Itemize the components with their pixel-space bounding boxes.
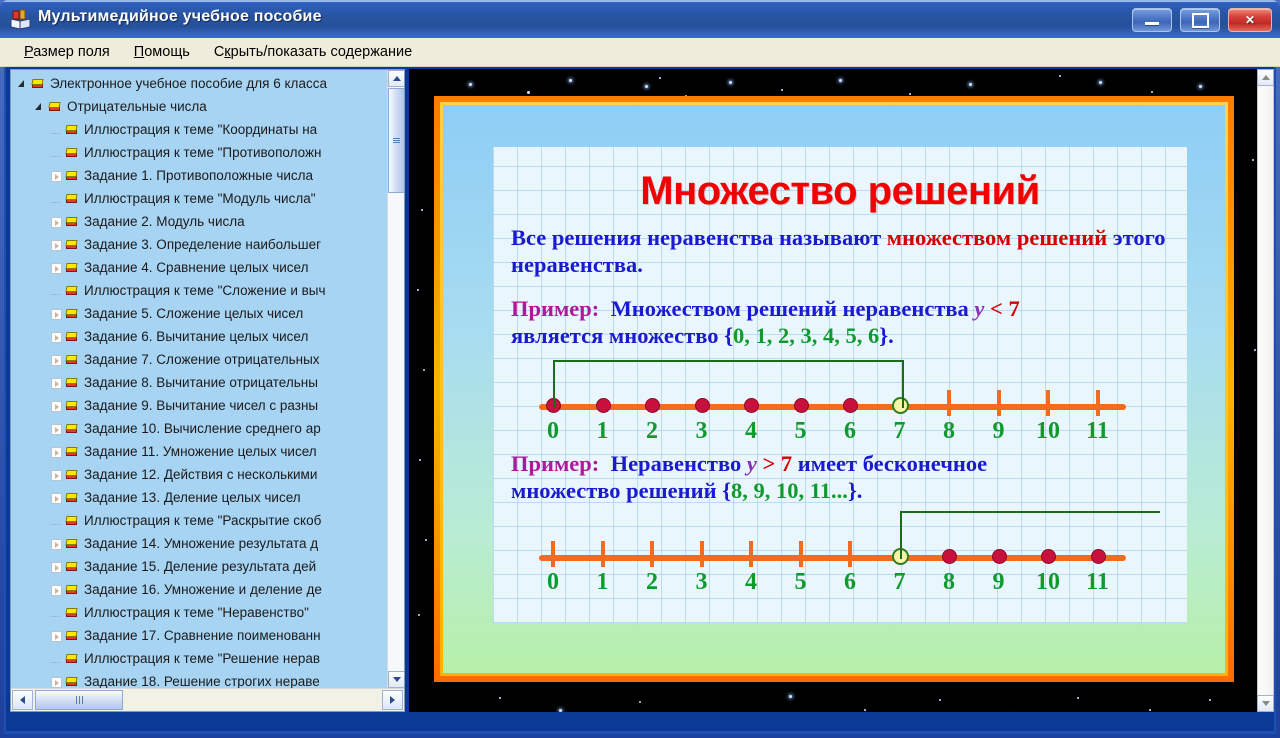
star (559, 709, 562, 712)
scroll-right-icon[interactable] (382, 690, 403, 710)
tree-node-label: Электронное учебное пособие для 6 класса (50, 76, 327, 91)
star (499, 697, 501, 699)
star (839, 79, 842, 82)
tree-node[interactable]: Отрицательные числа (11, 95, 388, 118)
number-line-label: 9 (984, 569, 1014, 596)
slide-paper: Множество решений Все решения неравенств… (493, 147, 1187, 623)
star (1151, 91, 1153, 93)
star (1149, 709, 1151, 711)
star (639, 701, 641, 703)
close-button[interactable]: ✕ (1228, 8, 1272, 32)
number-line-label: 1 (588, 418, 618, 445)
tree-node[interactable]: Задание 7. Сложение отрицательных (11, 348, 388, 371)
expand-icon[interactable] (51, 492, 62, 503)
expand-icon[interactable] (51, 170, 62, 181)
example-1-set: 0, 1, 2, 3, 4, 5, 6 (733, 323, 879, 348)
tree-node[interactable]: Иллюстрация к теме "Раскрытие скоб (11, 509, 388, 532)
minimize-icon (1145, 22, 1159, 25)
number-line-tick (1046, 390, 1050, 416)
star (1252, 159, 1254, 161)
tree-node[interactable]: Иллюстрация к теме "Модуль числа" (11, 187, 388, 210)
slide-example-1: Пример: Множеством решений неравенства y… (511, 295, 1187, 350)
tree-node-label: Задание 11. Умножение целых чисел (84, 444, 317, 459)
window-controls: ✕ (1132, 8, 1272, 32)
scroll-left-icon[interactable] (12, 690, 33, 710)
number-line-tick (551, 541, 555, 567)
star (939, 699, 941, 701)
tree-node-label: Задание 3. Определение наибольшег (84, 237, 321, 252)
star (1059, 75, 1061, 77)
tree-node-label: Задание 10. Вычисление среднего ар (84, 421, 321, 436)
book-icon (31, 78, 45, 90)
tree-node[interactable]: Задание 14. Умножение результата д (11, 532, 388, 555)
tree-node-label: Задание 16. Умножение и деление де (84, 582, 322, 597)
tree-node-label: Задание 14. Умножение результата д (84, 536, 318, 551)
number-line-label: 3 (687, 569, 717, 596)
slide-paragraph-1: Все решения неравенства называют множест… (511, 224, 1187, 279)
example-2-text-1: Неравенство (611, 451, 742, 476)
tree-leaf-spacer (51, 653, 62, 664)
example-1-set-open: { (724, 323, 733, 348)
number-line-2: 01234567891011 (511, 511, 1187, 597)
tree-node-label: Задание 8. Вычитание отрицательны (84, 375, 318, 390)
book-icon (65, 630, 79, 642)
book-icon (65, 607, 79, 619)
tree-node[interactable]: Задание 6. Вычитание целых чисел (11, 325, 388, 348)
number-line-label: 8 (934, 569, 964, 596)
book-icon (65, 469, 79, 481)
tree-node-label: Иллюстрация к теме "Неравенство" (84, 605, 309, 620)
star (909, 93, 911, 95)
viewport-scroll-down-icon[interactable] (1257, 695, 1274, 712)
tree-leaf-spacer (51, 285, 62, 296)
tree-leaf-spacer (51, 147, 62, 158)
example-2-text-2b: множество решений (511, 478, 717, 503)
tree-node[interactable]: Задание 3. Определение наибольшег (11, 233, 388, 256)
book-icon (65, 492, 79, 504)
tree-node-label: Задание 1. Противоположные числа (84, 168, 313, 183)
number-line-label: 11 (1083, 418, 1113, 445)
tree-node-label: Иллюстрация к теме "Решение нерав (84, 651, 320, 666)
book-icon (48, 101, 62, 113)
slide-example-2: Пример: Неравенство y > 7 имеет бесконеч… (511, 450, 1187, 505)
tree-node-label: Иллюстрация к теме "Модуль числа" (84, 191, 316, 206)
book-icon (65, 170, 79, 182)
number-line-label: 6 (835, 418, 865, 445)
expand-icon[interactable] (51, 538, 62, 549)
book-icon (65, 354, 79, 366)
star (1077, 697, 1079, 699)
tree-leaf-spacer (51, 607, 62, 618)
star (527, 91, 530, 94)
number-line-label: 2 (637, 569, 667, 596)
number-line-label: 2 (637, 418, 667, 445)
star (1099, 81, 1102, 84)
number-line-label: 7 (885, 569, 915, 596)
tree-leaf-spacer (51, 124, 62, 135)
menu-bar: Размер поля Помощь Скрыть/показать содер… (0, 38, 1280, 67)
number-line-1: 01234567891011 (511, 360, 1187, 446)
application-window: Мультимедийное учебное пособие ✕ Размер … (0, 0, 1280, 738)
number-line-tick (799, 541, 803, 567)
window-title: Мультимедийное учебное пособие (38, 8, 322, 26)
tree-node-label: Иллюстрация к теме "Раскрытие скоб (84, 513, 321, 528)
expand-icon[interactable] (51, 377, 62, 388)
expand-icon[interactable] (51, 469, 62, 480)
book-icon (65, 446, 79, 458)
example-2-label: Пример: (511, 451, 599, 476)
number-line-label: 4 (736, 418, 766, 445)
expand-icon[interactable] (51, 423, 62, 434)
tree-node-label: Задание 15. Деление результата дей (84, 559, 316, 574)
star (969, 83, 972, 86)
expand-icon[interactable] (51, 216, 62, 227)
menu-item-help[interactable]: Помощь (122, 41, 202, 63)
example-1-text-1: Множеством решений неравенства (611, 296, 969, 321)
book-icon (65, 538, 79, 550)
star (729, 81, 732, 84)
number-line-label: 5 (786, 418, 816, 445)
tree-node[interactable]: Задание 2. Модуль числа (11, 210, 388, 233)
tree-node[interactable]: Задание 5. Сложение целых чисел (11, 302, 388, 325)
star (781, 89, 783, 91)
contents-tree-panel: Электронное учебное пособие для 6 класса… (10, 69, 405, 712)
star (659, 77, 661, 79)
number-line-label: 0 (538, 418, 568, 445)
number-line-label: 7 (885, 418, 915, 445)
tree-node[interactable]: Задание 11. Умножение целых чисел (11, 440, 388, 463)
expand-icon[interactable] (51, 630, 62, 641)
tree-node[interactable]: Задание 15. Деление результата дей (11, 555, 388, 578)
star (425, 539, 427, 541)
book-icon (65, 584, 79, 596)
number-line-label: 10 (1033, 418, 1063, 445)
book-icon (65, 262, 79, 274)
expand-icon[interactable] (51, 561, 62, 572)
number-line-tick (650, 541, 654, 567)
tree-node[interactable]: Задание 13. Деление целых чисел (11, 486, 388, 509)
maximize-icon (1192, 13, 1209, 28)
example-1-variable: y (974, 296, 984, 321)
slide-frame-outer: Множество решений Все решения неравенств… (434, 96, 1234, 682)
number-line-tick (601, 541, 605, 567)
number-line-label: 9 (984, 418, 1014, 445)
number-line-label: 0 (538, 569, 568, 596)
viewport-vertical-scrollbar[interactable] (1257, 69, 1274, 712)
expand-icon[interactable] (51, 400, 62, 411)
title-bar: Мультимедийное учебное пособие ✕ (0, 0, 1280, 38)
tree-node-label: Задание 6. Вычитание целых чисел (84, 329, 308, 344)
tree-node-label: Иллюстрация к теме "Сложение и выч (84, 283, 326, 298)
star (864, 709, 866, 711)
number-line-label: 4 (736, 569, 766, 596)
number-line-tick (848, 541, 852, 567)
number-line-label: 6 (835, 569, 865, 596)
book-icon (65, 216, 79, 228)
star (423, 369, 425, 371)
tree-node-label: Задание 13. Деление целых чисел (84, 490, 301, 505)
book-icon (65, 377, 79, 389)
tree-vertical-scrollbar[interactable] (387, 70, 404, 688)
tree-node[interactable]: Задание 17. Сравнение поименованн (11, 624, 388, 647)
example-1-relation: < 7 (990, 296, 1020, 321)
paragraph-1-part-1: Все решения неравенства называют (511, 225, 887, 250)
tree-node[interactable]: Иллюстрация к теме "Неравенство" (11, 601, 388, 624)
scroll-down-icon[interactable] (388, 671, 405, 688)
number-line-tick (1096, 390, 1100, 416)
tree-node[interactable]: Иллюстрация к теме "Противоположн (11, 141, 388, 164)
example-2-relation: > 7 (762, 451, 792, 476)
book-icon (65, 308, 79, 320)
number-line-label: 10 (1033, 569, 1063, 596)
tree-node[interactable]: Электронное учебное пособие для 6 класса (11, 72, 388, 95)
tree-node-label: Иллюстрация к теме "Координаты на (84, 122, 317, 137)
tree-node-label: Задание 17. Сравнение поименованн (84, 628, 321, 643)
number-line-label: 11 (1083, 569, 1113, 596)
star (645, 85, 648, 88)
expand-icon[interactable] (51, 676, 62, 687)
tree-node-label: Задание 7. Сложение отрицательных (84, 352, 320, 367)
star (469, 83, 472, 86)
star (417, 289, 419, 291)
book-icon (65, 147, 79, 159)
tree-node-label: Задание 9. Вычитание чисел с разны (84, 398, 318, 413)
tree-vscroll-thumb[interactable] (388, 88, 405, 193)
tree-node[interactable]: Задание 18. Решение строгих нераве (11, 670, 388, 688)
book-icon (65, 676, 79, 688)
book-icon (65, 124, 79, 136)
star (789, 695, 792, 698)
tree-node[interactable]: Задание 10. Вычисление среднего ар (11, 417, 388, 440)
book-icon (65, 331, 79, 343)
tree-node-label: Отрицательные числа (67, 99, 207, 114)
tree-leaf-spacer (51, 515, 62, 526)
book-icon (65, 515, 79, 527)
number-line-tick (997, 390, 1001, 416)
tree-node[interactable]: Задание 9. Вычитание чисел с разны (11, 394, 388, 417)
expand-icon[interactable] (51, 446, 62, 457)
star (569, 79, 572, 82)
maximize-button[interactable] (1180, 8, 1220, 32)
tree-node[interactable]: Задание 12. Действия с несколькими (11, 463, 388, 486)
tree-node[interactable]: Задание 4. Сравнение целых чисел (11, 256, 388, 279)
book-icon (65, 285, 79, 297)
number-line-bracket (900, 511, 1160, 559)
tree-node[interactable]: Иллюстрация к теме "Решение нерав (11, 647, 388, 670)
tree-node[interactable]: Задание 1. Противоположные числа (11, 164, 388, 187)
tree-scroll-area: Электронное учебное пособие для 6 класса… (11, 70, 388, 688)
tree-node-label: Иллюстрация к теме "Противоположн (84, 145, 321, 160)
example-1-label: Пример: (511, 296, 599, 321)
expand-icon[interactable] (51, 584, 62, 595)
slide-title: Множество решений (493, 169, 1187, 214)
client-area: Электронное учебное пособие для 6 класса… (4, 67, 1276, 734)
star (1199, 85, 1202, 88)
example-1-text-2: является множество (511, 323, 718, 348)
example-2-set-open: { (722, 478, 731, 503)
star (418, 614, 420, 616)
slide-frame-mid: Множество решений Все решения неравенств… (440, 102, 1228, 676)
star (1209, 699, 1211, 701)
example-2-variable: y (747, 451, 757, 476)
close-icon: ✕ (1229, 9, 1271, 31)
collapse-icon[interactable] (17, 78, 28, 89)
tree-node[interactable]: Иллюстрация к теме "Сложение и выч (11, 279, 388, 302)
number-line-label: 8 (934, 418, 964, 445)
collapse-icon[interactable] (34, 101, 45, 112)
tree-node[interactable]: Задание 16. Умножение и деление де (11, 578, 388, 601)
tree-node-label: Задание 18. Решение строгих нераве (84, 674, 320, 688)
book-icon (65, 239, 79, 251)
number-line-bracket (553, 360, 904, 408)
star (421, 209, 423, 211)
viewport-scroll-up-icon[interactable] (1257, 69, 1274, 86)
tree-horizontal-scrollbar[interactable] (11, 688, 404, 711)
menu-item-field-size[interactable]: Размер поля (12, 41, 122, 63)
book-icon (10, 9, 31, 30)
paragraph-1-part-2: множеством решений (887, 225, 1107, 250)
book-icon (65, 561, 79, 573)
example-2-text-2a: имеет бесконечное (798, 451, 987, 476)
book-icon (65, 653, 79, 665)
number-line-tick (947, 390, 951, 416)
expand-icon[interactable] (51, 239, 62, 250)
number-line-label: 3 (687, 418, 717, 445)
expand-icon[interactable] (51, 262, 62, 273)
number-line-tick (700, 541, 704, 567)
number-line-label: 1 (588, 569, 618, 596)
expand-icon[interactable] (51, 308, 62, 319)
tree-hscroll-thumb[interactable] (35, 690, 123, 710)
example-2-set: 8, 9, 10, 11... (731, 478, 848, 503)
tree-node-label: Задание 4. Сравнение целых чисел (84, 260, 308, 275)
tree-node-label: Задание 5. Сложение целых чисел (84, 306, 303, 321)
tree-node-label: Задание 12. Действия с несколькими (84, 467, 317, 482)
tree-leaf-spacer (51, 193, 62, 204)
expand-icon[interactable] (51, 354, 62, 365)
tree-node[interactable]: Задание 8. Вычитание отрицательны (11, 371, 388, 394)
star (1254, 349, 1256, 351)
tree-node[interactable]: Иллюстрация к теме "Координаты на (11, 118, 388, 141)
menu-item-toggle-contents[interactable]: Скрыть/показать содержание (202, 41, 424, 63)
book-icon (65, 423, 79, 435)
book-icon (65, 193, 79, 205)
tree-node-label: Задание 2. Модуль числа (84, 214, 245, 229)
slide-viewport: Множество решений Все решения неравенств… (409, 69, 1274, 712)
number-line-tick (749, 541, 753, 567)
example-1-set-close: }. (879, 323, 894, 348)
slide-frame-inner: Множество решений Все решения неравенств… (443, 105, 1225, 673)
contents-tree[interactable]: Электронное учебное пособие для 6 класса… (11, 70, 388, 688)
scroll-up-icon[interactable] (388, 70, 405, 87)
star (419, 459, 421, 461)
book-icon (65, 400, 79, 412)
example-2-set-close: }. (848, 478, 863, 503)
minimize-button[interactable] (1132, 8, 1172, 32)
number-line-label: 5 (786, 569, 816, 596)
expand-icon[interactable] (51, 331, 62, 342)
